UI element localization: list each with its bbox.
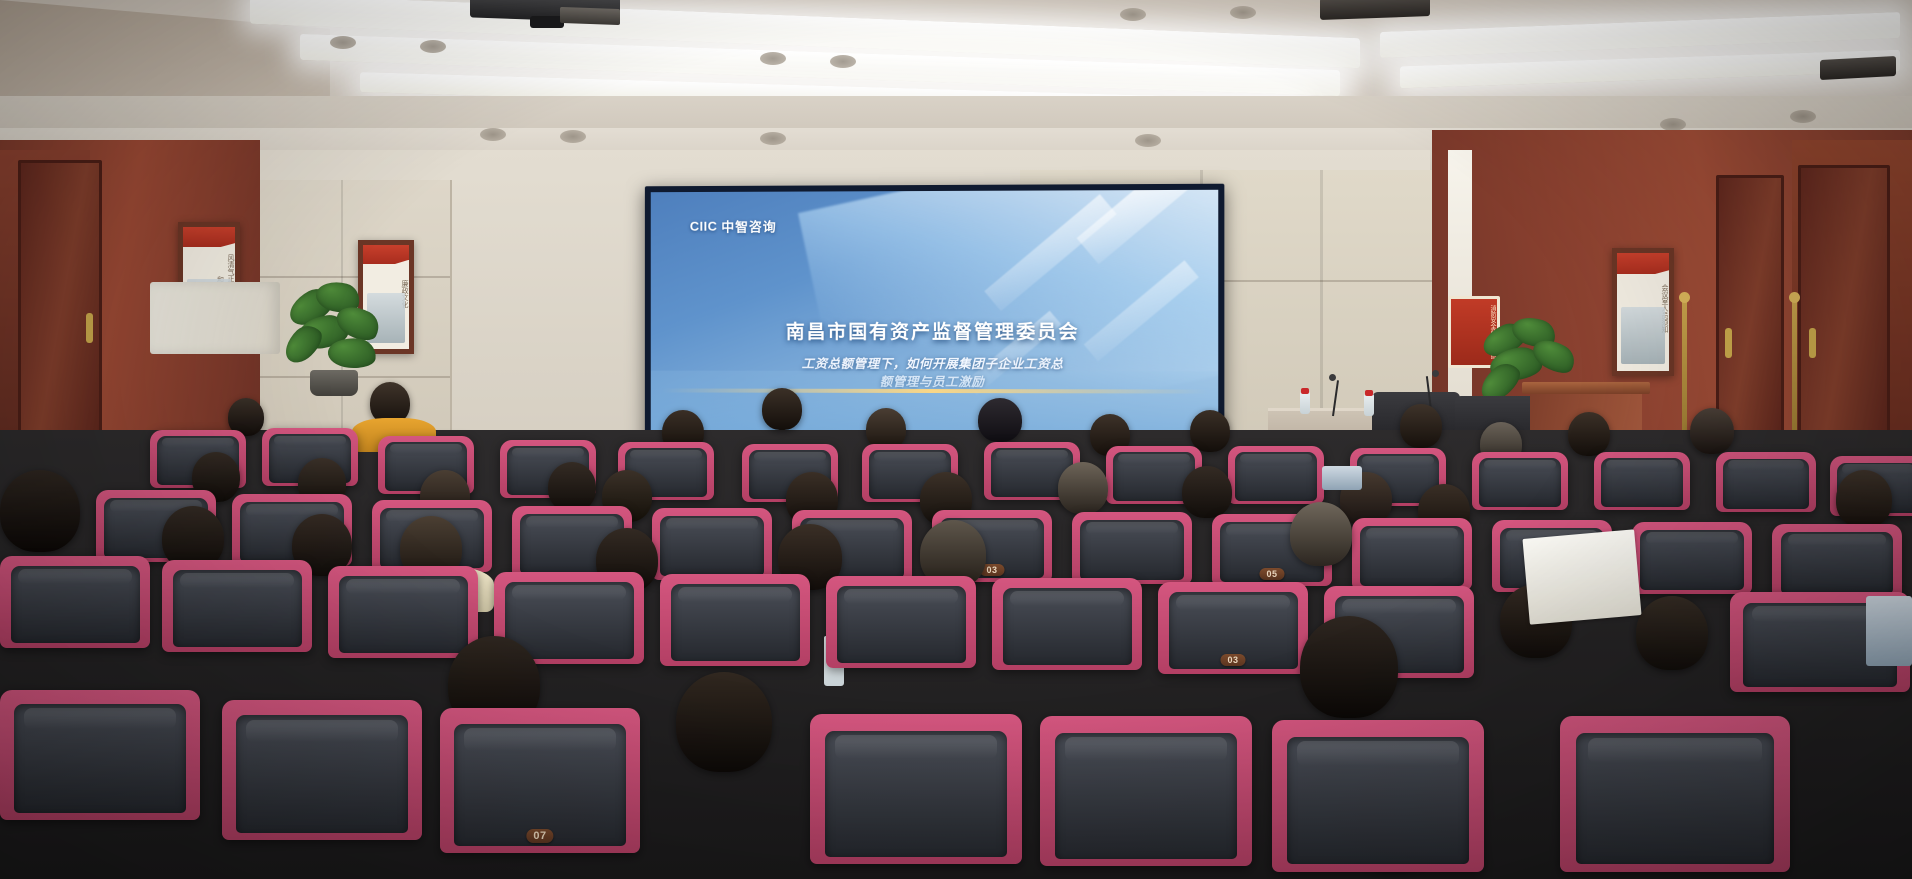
bottle-cap-icon xyxy=(1365,390,1373,396)
seat[interactable] xyxy=(1772,524,1902,598)
downlight xyxy=(760,132,786,145)
attendee-head xyxy=(1182,466,1232,518)
seat[interactable] xyxy=(1228,446,1324,504)
light-cove-strip xyxy=(1380,12,1900,58)
seat[interactable]: 07 xyxy=(440,708,640,853)
seat[interactable] xyxy=(1632,522,1752,594)
downlight xyxy=(1120,8,1146,21)
plant-pot xyxy=(310,370,358,396)
seat[interactable] xyxy=(826,576,976,668)
attendee-head xyxy=(1058,462,1108,514)
microphone-head-icon xyxy=(1329,374,1336,381)
attendee-head xyxy=(676,672,772,772)
downlight xyxy=(480,128,506,141)
seat[interactable] xyxy=(1594,452,1690,510)
logo-chinese: 中智咨询 xyxy=(721,216,776,235)
seat[interactable] xyxy=(328,566,478,658)
seat[interactable] xyxy=(1716,452,1816,512)
seat[interactable] xyxy=(660,574,810,666)
seat[interactable] xyxy=(1472,452,1568,510)
attendee-head xyxy=(1568,412,1610,456)
seat[interactable] xyxy=(652,508,772,580)
downlight xyxy=(760,52,786,65)
poster-banner xyxy=(1617,253,1669,274)
poster-banner xyxy=(363,245,409,264)
seat[interactable] xyxy=(1072,512,1192,584)
seat[interactable]: 03 xyxy=(1158,582,1308,674)
projection-screen: CIIC 中智咨询 南昌市国有资产监督管理委员会 工资总额管理下，如何开展集团子… xyxy=(651,190,1219,465)
attendee-head xyxy=(1290,502,1352,566)
lectern-top xyxy=(1522,382,1650,394)
door-handle-icon xyxy=(1809,328,1816,358)
attendee-head xyxy=(762,388,802,430)
conference-hall-photo: 风清气正 政通人和 廉政文化 消防安全疏散示意图 会议室人员须知 CIIC 中智… xyxy=(0,0,1912,879)
flag-pole-finial-icon xyxy=(1679,292,1690,303)
handout-paper xyxy=(1522,529,1641,624)
seat-badge: 03 xyxy=(1220,654,1245,666)
ceiling-speaker xyxy=(1820,56,1896,80)
seat[interactable] xyxy=(1040,716,1252,866)
downlight xyxy=(560,130,586,143)
mobile-phone[interactable] xyxy=(1322,466,1362,490)
mobile-phone[interactable] xyxy=(1866,596,1912,666)
attendee-head xyxy=(1836,470,1892,528)
flag-pole-finial-icon xyxy=(1789,292,1800,303)
attendee-head xyxy=(1400,404,1442,448)
downlight xyxy=(420,40,446,53)
seat-badge: 05 xyxy=(1259,568,1284,580)
seat[interactable] xyxy=(1272,720,1484,872)
projector-lens-icon xyxy=(530,16,564,28)
ceiling-speaker xyxy=(1320,0,1430,20)
seat[interactable] xyxy=(222,700,422,840)
attendee-head xyxy=(0,470,80,552)
attendee-head xyxy=(548,462,596,512)
poster-artwork xyxy=(1621,307,1665,364)
seat[interactable] xyxy=(992,578,1142,670)
ciic-logo: CIIC 中智咨询 xyxy=(690,216,777,235)
seat[interactable] xyxy=(162,560,312,652)
seat[interactable] xyxy=(1352,518,1472,590)
door-handle-icon xyxy=(86,313,93,343)
seat[interactable] xyxy=(1560,716,1790,872)
downlight xyxy=(1135,134,1161,147)
attendee-head xyxy=(1636,596,1708,670)
attendee-head xyxy=(1690,408,1734,454)
poster-banner xyxy=(183,227,235,247)
door-left[interactable] xyxy=(18,160,102,476)
framed-poster-right: 会议室人员须知 xyxy=(1612,248,1674,376)
seat-badge: 07 xyxy=(526,829,553,843)
seat[interactable] xyxy=(810,714,1022,864)
air-vent xyxy=(560,7,620,25)
attendee-head xyxy=(978,398,1022,442)
seat[interactable] xyxy=(0,690,200,820)
downlight xyxy=(830,55,856,68)
water-bottle xyxy=(1364,394,1374,416)
attendee-head xyxy=(1300,616,1398,718)
projection-screen-frame: CIIC 中智咨询 南昌市国有资产监督管理委员会 工资总额管理下，如何开展集团子… xyxy=(645,184,1224,472)
door-handle-icon xyxy=(1725,328,1732,358)
white-drape xyxy=(150,282,280,354)
seat[interactable] xyxy=(0,556,150,648)
downlight xyxy=(1230,6,1256,19)
microphone-head-icon xyxy=(1432,370,1439,377)
logo-mark: CIIC xyxy=(690,218,718,233)
downlight xyxy=(1790,110,1816,123)
bottle-cap-icon xyxy=(1301,388,1309,394)
slide-title: 南昌市国有资产监督管理委员会 xyxy=(651,316,1219,343)
water-bottle xyxy=(1300,392,1310,414)
downlight xyxy=(330,36,356,49)
